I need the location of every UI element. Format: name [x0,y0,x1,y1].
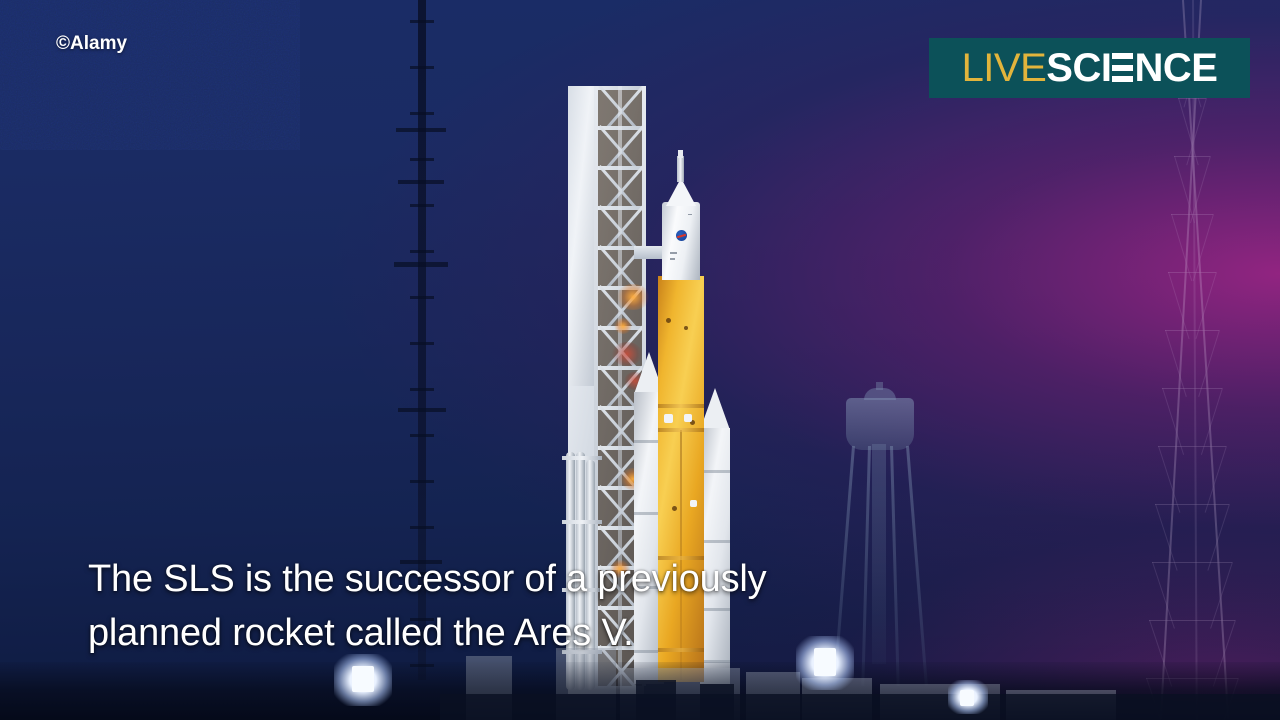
caption-line-1: The SLS is the successor of a previously [88,552,988,606]
video-frame: ©Alamy LIVESCINCE The SLS is the success… [0,0,1280,720]
logo-sci-text: SCI [1046,48,1111,88]
logo-nce-text: NCE [1134,48,1217,88]
film-grain [0,0,300,150]
logo-live-text: LIVE [962,48,1047,88]
live-science-logo[interactable]: LIVESCINCE [929,38,1250,98]
logo-wordmark: LIVESCINCE [962,48,1218,88]
upper-stage [662,202,700,280]
booster-right-nose [700,388,730,430]
orion-capsule [666,178,696,206]
nasa-insignia [676,230,687,241]
caption-subtitle: The SLS is the successor of a previously… [88,552,988,660]
launch-abort-tower [677,156,684,182]
logo-e-glyph-icon [1112,53,1133,82]
copyright-watermark: ©Alamy [56,33,127,55]
caption-line-2: planned rocket called the Ares V. [88,606,988,660]
lattice-tower [1138,0,1256,720]
